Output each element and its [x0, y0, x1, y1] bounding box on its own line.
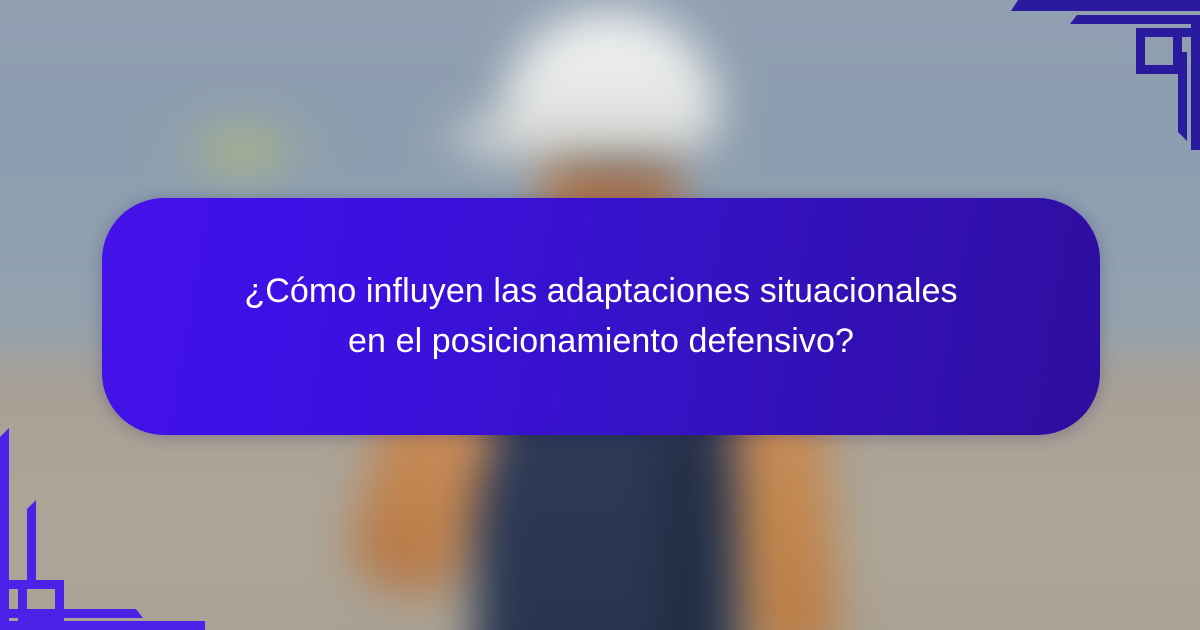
social-share-card: ¿Cómo influyen las adaptaciones situacio…	[0, 0, 1200, 630]
headline-banner: ¿Cómo influyen las adaptaciones situacio…	[102, 198, 1100, 435]
headline-text: ¿Cómo influyen las adaptaciones situacio…	[244, 267, 957, 366]
background-racket-blob	[178, 120, 308, 180]
person-torso-shadow	[666, 435, 706, 630]
